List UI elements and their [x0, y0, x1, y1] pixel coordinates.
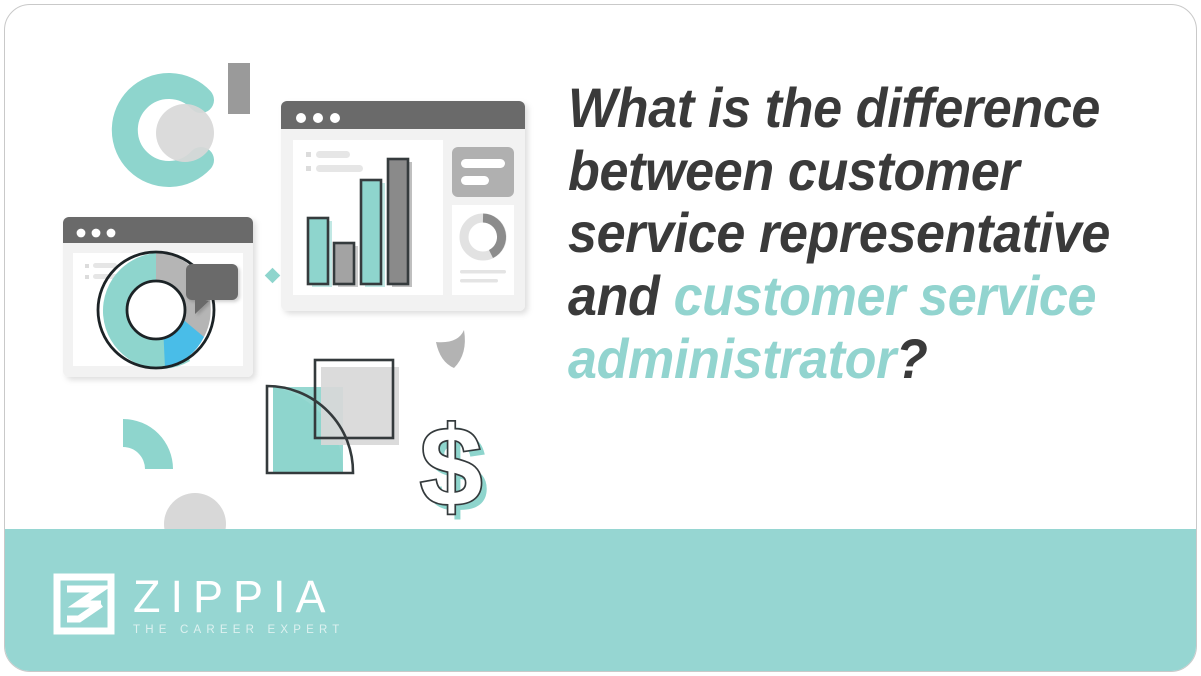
caption-line [460, 279, 498, 283]
gray-rectangle [228, 63, 250, 114]
window-dot [92, 229, 101, 238]
headline-accent-2: administrator [568, 327, 896, 390]
headline-accent-1: customer service [674, 264, 1097, 327]
page-title: What is the difference between customer … [568, 77, 1126, 391]
caption-line [460, 270, 506, 274]
logo-wordmark: ZIPPIA [133, 574, 345, 619]
headline-line-4: and customer service [568, 265, 1126, 328]
window-dot [107, 229, 116, 238]
bar-3 [361, 180, 381, 284]
gray-swoosh [436, 330, 465, 368]
window-dot [313, 113, 323, 123]
headline-line-5: administrator? [568, 328, 1126, 391]
dashboard-window[interactable] [281, 101, 525, 311]
teal-diamond [265, 268, 281, 284]
side-panel-card [452, 147, 514, 197]
window-dot [330, 113, 340, 123]
bar-1 [308, 218, 328, 284]
svg-text:$: $ [420, 404, 482, 529]
headline-question-mark: ? [896, 327, 927, 390]
bar-4 [388, 159, 408, 284]
gray-circle-small [156, 104, 214, 162]
window-dot [296, 113, 306, 123]
logo-tagline: THE CAREER EXPERT [133, 624, 345, 636]
teal-arc-bottom [123, 419, 173, 469]
headline-line-2: between customer [568, 140, 1126, 203]
zippia-logo[interactable]: ZIPPIA THE CAREER EXPERT [53, 572, 345, 636]
headline-prefix: and [568, 264, 674, 327]
headline-line-3: service representative [568, 202, 1126, 265]
bar-2 [334, 243, 354, 284]
window-dot [77, 229, 86, 238]
promo-card: $ $ ZIPPIA THE CAREER EXPERT What is the… [4, 4, 1197, 672]
side-panel-donut [452, 205, 514, 295]
gray-square-fill [321, 367, 399, 445]
headline-line-1: What is the difference [568, 77, 1126, 140]
zippia-logo-mark [53, 573, 115, 635]
dollar-sign: $ $ [420, 404, 488, 535]
